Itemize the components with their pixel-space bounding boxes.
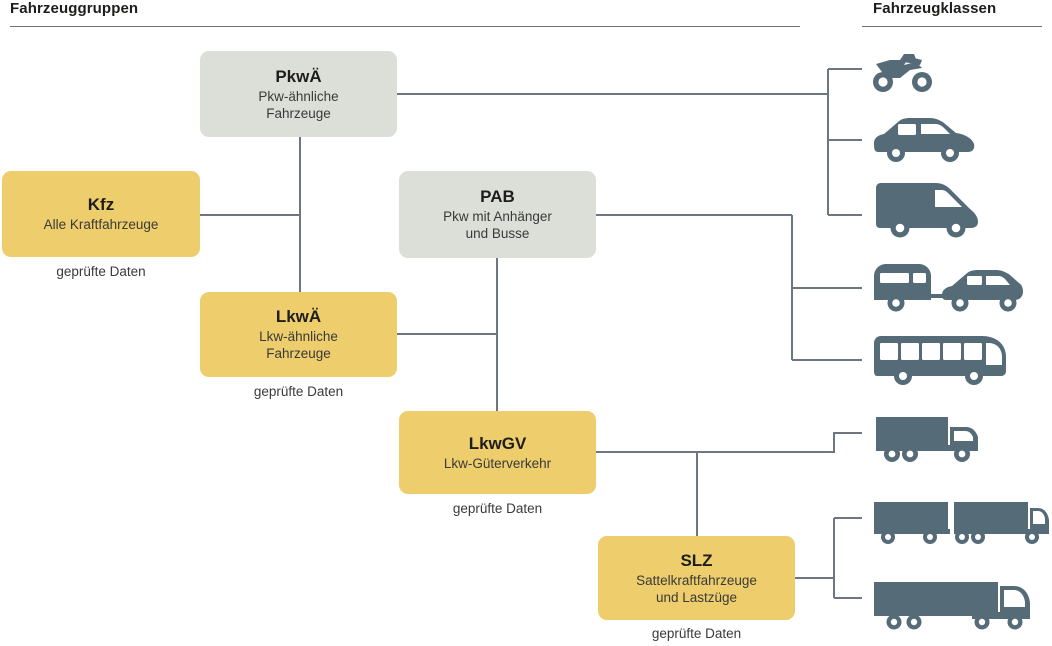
header-rule-right	[862, 26, 1042, 27]
connector-lines	[0, 0, 1052, 646]
bus-icon	[872, 335, 1008, 385]
group-desc-lkwgv-line1: Lkw-Güterverkehr	[444, 456, 551, 473]
column-header-vehicle-groups: Fahrzeuggruppen	[10, 0, 138, 17]
header-rule-left	[10, 26, 800, 27]
column-header-vehicle-classes: Fahrzeugklassen	[873, 0, 996, 17]
group-box-pkwae[interactable]: PkwÄ Pkw-ähnliche Fahrzeuge	[200, 51, 397, 137]
diagram-canvas: Fahrzeuggruppen Fahrzeugklassen	[0, 0, 1052, 646]
caption-kfz-verified: geprüfte Daten	[2, 264, 200, 279]
car-with-trailer-icon	[872, 262, 1024, 314]
semi-trailer-truck-icon	[872, 580, 1032, 630]
group-desc-kfz-line1: Alle Kraftfahrzeuge	[44, 217, 159, 234]
group-desc-pkwae-line2: Fahrzeuge	[266, 106, 331, 123]
group-code-kfz: Kfz	[88, 194, 114, 215]
group-desc-pab-line1: Pkw mit Anhänger	[443, 209, 552, 226]
box-truck-icon	[874, 415, 982, 463]
group-code-pab: PAB	[480, 186, 515, 207]
truck-with-trailer-icon	[872, 500, 1050, 546]
caption-slz-verified: geprüfte Daten	[598, 626, 795, 641]
group-code-lkwgv: LkwGV	[469, 433, 527, 454]
group-code-pkwae: PkwÄ	[275, 66, 321, 87]
group-code-lkwae: LkwÄ	[276, 306, 321, 327]
caption-lkwae-verified: geprüfte Daten	[200, 384, 397, 399]
group-box-lkwgv[interactable]: LkwGV Lkw-Güterverkehr	[399, 411, 596, 494]
van-icon	[874, 182, 980, 238]
car-icon	[872, 117, 976, 163]
group-box-kfz[interactable]: Kfz Alle Kraftfahrzeuge	[2, 171, 200, 257]
group-box-lkwae[interactable]: LkwÄ Lkw-ähnliche Fahrzeuge	[200, 292, 397, 377]
group-code-slz: SLZ	[680, 550, 712, 571]
group-desc-slz-line2: und Lastzüge	[656, 590, 737, 607]
motorcycle-icon	[870, 50, 940, 94]
group-desc-pab-line2: und Busse	[466, 226, 530, 243]
caption-lkwgv-verified: geprüfte Daten	[399, 501, 596, 516]
group-box-slz[interactable]: SLZ Sattelkraftfahrzeuge und Lastzüge	[598, 536, 795, 620]
group-box-pab[interactable]: PAB Pkw mit Anhänger und Busse	[399, 171, 596, 258]
group-desc-lkwae-line1: Lkw-ähnliche	[259, 329, 338, 346]
group-desc-slz-line1: Sattelkraftfahrzeuge	[636, 573, 757, 590]
group-desc-pkwae-line1: Pkw-ähnliche	[258, 89, 338, 106]
group-desc-lkwae-line2: Fahrzeuge	[266, 346, 331, 363]
edge-lkwgv-to-box-truck	[596, 433, 862, 452]
